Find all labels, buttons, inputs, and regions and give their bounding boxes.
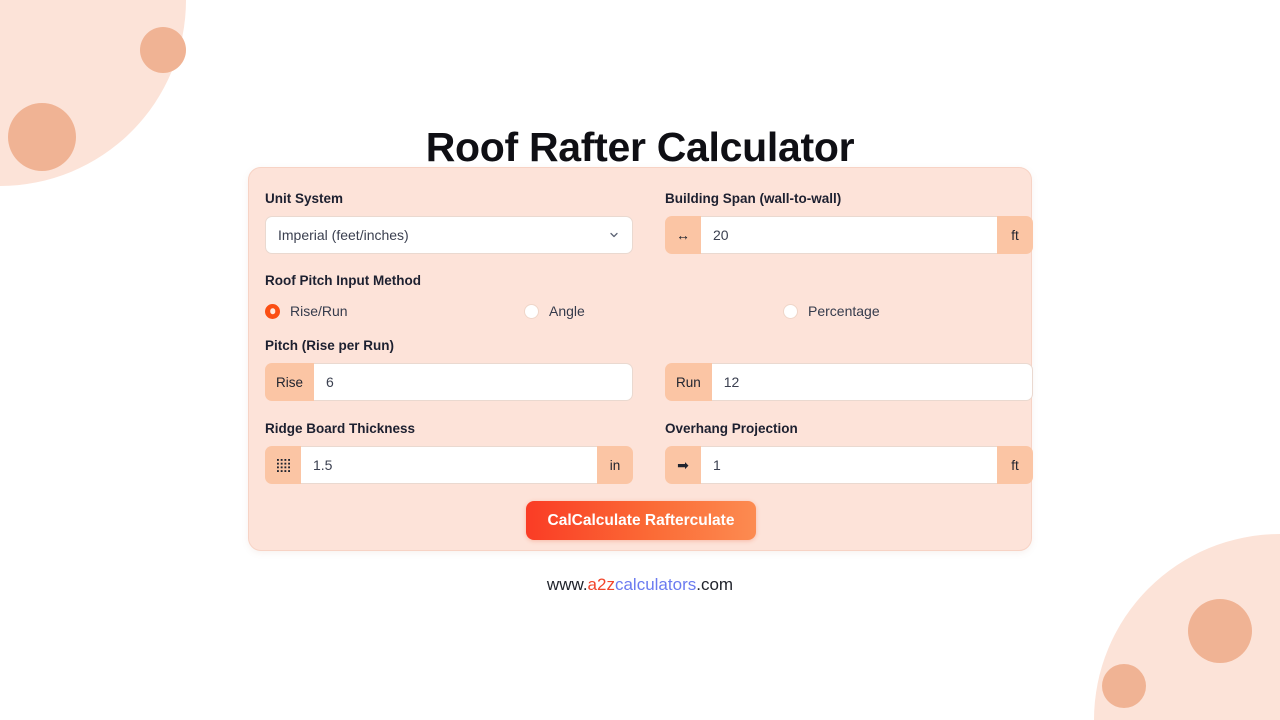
spacer [665, 324, 1033, 337]
radio-indicator-percentage[interactable] [783, 304, 798, 319]
radio-indicator-angle[interactable] [524, 304, 539, 319]
footer-brand-a2z: a2z [588, 575, 615, 594]
calculator-card: Unit System Building Span (wall-to-wall)… [248, 167, 1032, 551]
rise-input-group: Rise [265, 363, 633, 401]
run-input[interactable] [712, 363, 1033, 401]
pitch-method-radio-group: Rise/Run Angle Percentage [265, 298, 1033, 324]
page-root: Roof Rafter Calculator Unit System Build… [0, 0, 1280, 720]
footer-brand-calculators: calculators [615, 575, 696, 594]
unit-system-label: Unit System [265, 190, 633, 207]
spacer [665, 254, 1033, 272]
unit-system-field: Imperial (feet/inches) [265, 216, 633, 254]
overhang-field: ➡ ft [665, 446, 1033, 484]
arrow-right-icon: ➡ [665, 446, 701, 484]
radio-label-rise-run: Rise/Run [290, 303, 348, 319]
spacer [665, 401, 1033, 420]
pitch-method-label: Roof Pitch Input Method [265, 272, 633, 289]
rise-prefix-label: Rise [265, 363, 314, 401]
spacer [265, 401, 633, 420]
radio-label-percentage: Percentage [808, 303, 880, 319]
unit-system-select[interactable]: Imperial (feet/inches) [265, 216, 633, 254]
ridge-board-label: Ridge Board Thickness [265, 420, 633, 437]
pitch-right-label-spacer [665, 337, 1033, 363]
rise-input[interactable] [314, 363, 633, 401]
overhang-input[interactable] [701, 446, 997, 484]
overhang-input-group: ➡ ft [665, 446, 1033, 484]
run-prefix-label: Run [665, 363, 712, 401]
radio-label-angle: Angle [549, 303, 585, 319]
overhang-unit: ft [997, 446, 1033, 484]
building-span-label: Building Span (wall-to-wall) [665, 190, 1033, 207]
building-span-unit: ft [997, 216, 1033, 254]
spacer [265, 324, 633, 337]
radio-option-percentage[interactable]: Percentage [783, 303, 1033, 319]
pitch-label: Pitch (Rise per Run) [265, 337, 633, 354]
unit-system-select-wrap[interactable]: Imperial (feet/inches) [265, 216, 633, 254]
building-span-input[interactable] [701, 216, 997, 254]
run-field: Run [665, 363, 1033, 401]
footer-suffix: .com [696, 575, 733, 594]
grid-dots-icon [265, 446, 301, 484]
grid-dots-icon-svg [277, 459, 290, 472]
form-grid: Unit System Building Span (wall-to-wall)… [265, 190, 1015, 484]
ridge-board-input-group: in [265, 446, 633, 484]
spacer [265, 254, 633, 272]
calculate-button[interactable]: CalCalculate Rafterculate [526, 501, 757, 540]
run-input-group: Run [665, 363, 1033, 401]
ridge-board-field: in [265, 446, 633, 484]
arrows-horizontal-icon: ↔ [665, 216, 701, 254]
radio-option-rise-run[interactable]: Rise/Run [265, 303, 524, 319]
ridge-board-input[interactable] [301, 446, 597, 484]
overhang-label: Overhang Projection [665, 420, 1033, 437]
building-span-field: ↔ ft [665, 216, 1033, 254]
ridge-board-unit: in [597, 446, 633, 484]
page-title: Roof Rafter Calculator [0, 121, 1280, 173]
chevron-down-icon [608, 229, 620, 241]
footer-prefix: www. [547, 575, 588, 594]
submit-row: CalCalculate Rafterculate [249, 501, 1033, 540]
building-span-input-group: ↔ ft [665, 216, 1033, 254]
radio-indicator-rise-run[interactable] [265, 304, 280, 319]
rise-field: Rise [265, 363, 633, 401]
footer-url: www.a2zcalculators.com [0, 573, 1280, 597]
radio-option-angle[interactable]: Angle [524, 303, 783, 319]
